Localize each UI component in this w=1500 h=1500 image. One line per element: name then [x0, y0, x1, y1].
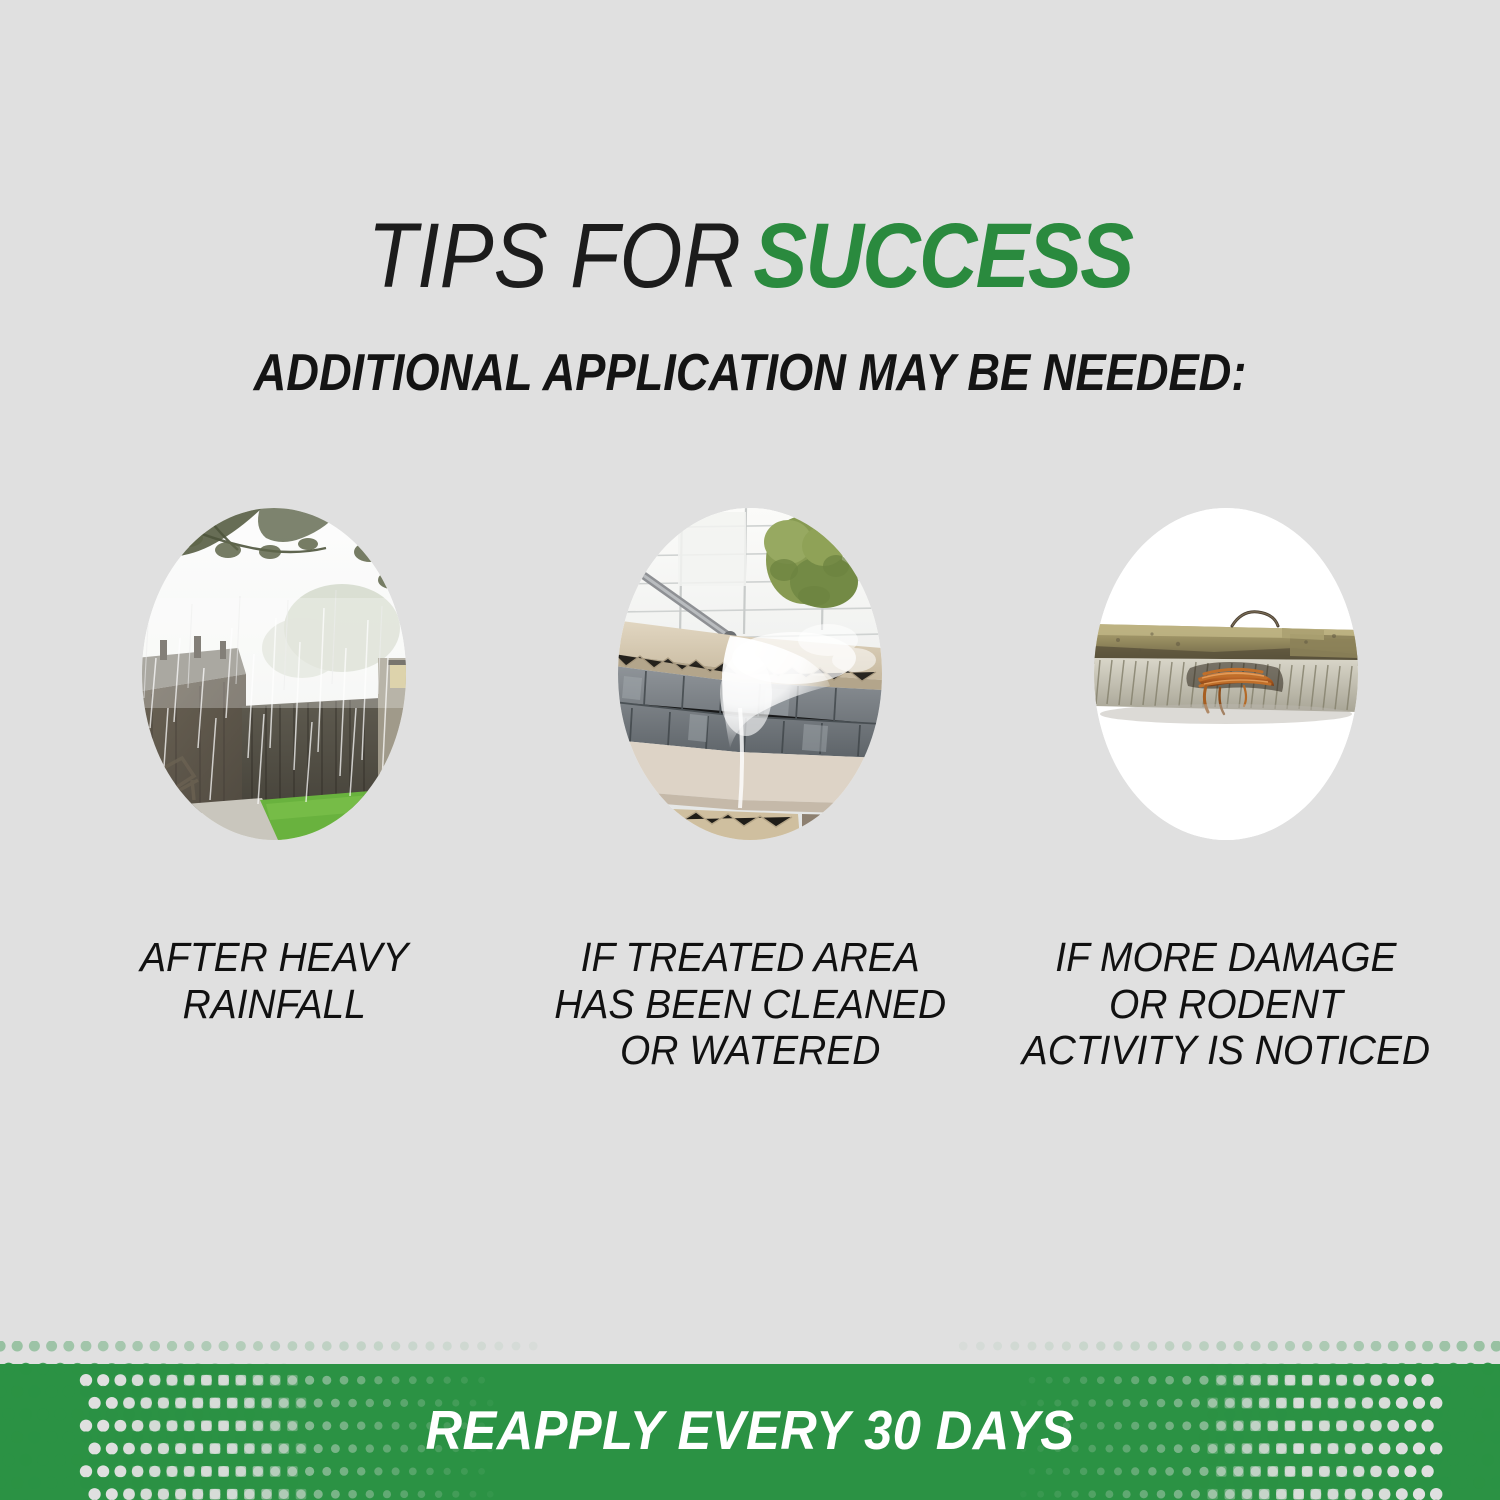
- caption-line: OR RODENT: [1022, 981, 1430, 1028]
- feature-caption-rodent: IF MORE DAMAGE OR RODENT ACTIVITY IS NOT…: [1022, 934, 1430, 1074]
- circle-image-frame-rodent: [1076, 492, 1376, 872]
- caption-line: RAINFALL: [140, 981, 408, 1028]
- pressure-washing-stone-wall-photo: [618, 508, 882, 840]
- caption-line: IF MORE DAMAGE: [1022, 934, 1430, 981]
- feature-card-rainfall: AFTER HEAVY RAINFALL: [124, 492, 424, 1027]
- feature-caption-rainfall: AFTER HEAVY RAINFALL: [140, 934, 408, 1027]
- page-title-green-part: SUCCESS: [753, 205, 1132, 307]
- page-title-dark-part: TIPS FOR: [368, 205, 741, 307]
- rodent-chewed-cable-photo: [1094, 508, 1358, 840]
- banner-label: REAPPLY EVERY 30 DAYS: [60, 1398, 1440, 1462]
- caption-line: OR WATERED: [554, 1027, 946, 1074]
- feature-card-rodent: IF MORE DAMAGE OR RODENT ACTIVITY IS NOT…: [1076, 492, 1376, 1074]
- heavy-rainfall-backyard-photo: [142, 508, 406, 840]
- caption-line: IF TREATED AREA: [554, 934, 946, 981]
- feature-caption-cleaned: IF TREATED AREA HAS BEEN CLEANED OR WATE…: [554, 934, 946, 1074]
- subtitle: ADDITIONAL APPLICATION MAY BE NEEDED:: [98, 343, 1403, 403]
- caption-line: ACTIVITY IS NOTICED: [1022, 1027, 1430, 1074]
- feature-card-row: AFTER HEAVY RAINFALL: [0, 492, 1500, 1074]
- infographic-poster: TIPS FORSUCCESS ADDITIONAL APPLICATION M…: [0, 0, 1500, 1500]
- caption-line: HAS BEEN CLEANED: [554, 981, 946, 1028]
- caption-line: AFTER HEAVY: [140, 934, 408, 981]
- feature-card-cleaned: IF TREATED AREA HAS BEEN CLEANED OR WATE…: [600, 492, 900, 1074]
- circle-image-frame-cleaned: [600, 492, 900, 872]
- reapply-banner: REAPPLY EVERY 30 DAYS: [0, 1340, 1500, 1500]
- circle-image-frame-rainfall: [124, 492, 424, 872]
- page-title: TIPS FORSUCCESS: [90, 208, 1410, 305]
